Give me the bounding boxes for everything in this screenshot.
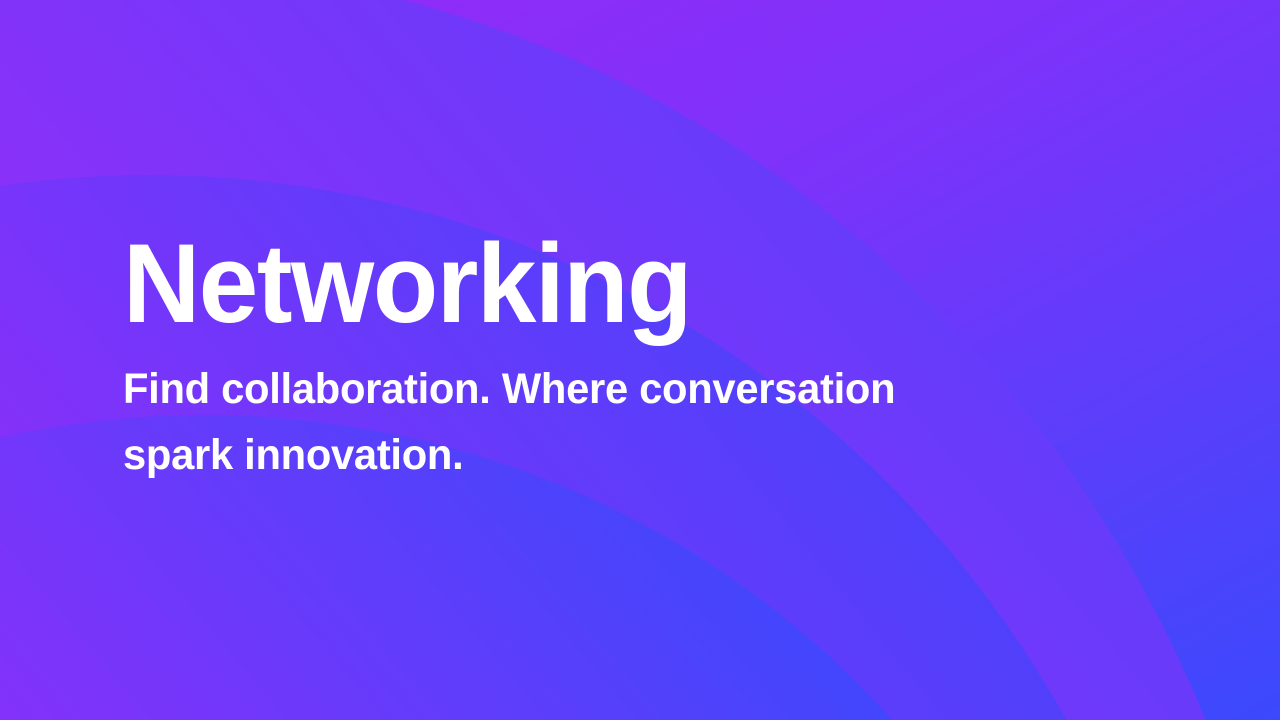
subtitle: Find collaboration. Where conversation s… [123, 357, 977, 489]
subtitle-line-1: Find collaboration. Where conversation [123, 357, 977, 423]
subtitle-line-2: spark innovation. [123, 423, 977, 489]
slide-canvas: Networking Find collaboration. Where con… [0, 0, 1280, 720]
page-title: Networking [123, 232, 983, 335]
hero-text-block: Networking Find collaboration. Where con… [123, 232, 1023, 489]
